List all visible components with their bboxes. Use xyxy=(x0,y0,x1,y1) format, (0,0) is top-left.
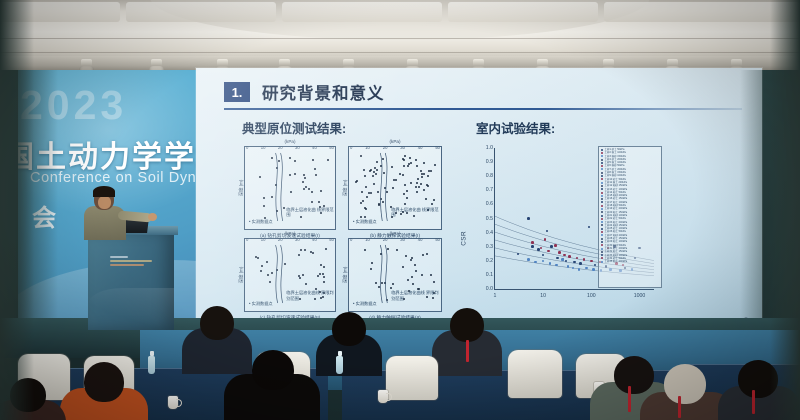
csr-data-point xyxy=(585,267,588,270)
ceiling-panel xyxy=(448,2,598,22)
data-point xyxy=(375,173,377,175)
data-point xyxy=(434,164,436,166)
data-point xyxy=(320,190,322,192)
data-point xyxy=(412,283,414,285)
data-point xyxy=(370,268,372,270)
csr-y-tick: 0.2 xyxy=(471,258,493,264)
data-point xyxy=(381,282,383,284)
data-point xyxy=(365,186,367,188)
data-point xyxy=(373,183,375,185)
slide-heading-lab: 室内试验结果: xyxy=(476,118,555,137)
csr-data-point xyxy=(578,268,581,271)
data-point xyxy=(370,169,372,171)
panel-x-ticks: 01020304050 xyxy=(349,237,441,242)
data-point xyxy=(372,175,374,177)
audience-chair xyxy=(386,356,438,400)
data-point xyxy=(300,249,302,251)
data-point xyxy=(315,174,317,176)
csr-y-tick: 0.9 xyxy=(471,159,493,165)
data-point xyxy=(298,254,300,256)
data-point xyxy=(433,281,435,283)
csr-legend-marker xyxy=(601,172,603,174)
data-point xyxy=(305,186,307,188)
data-point xyxy=(303,174,305,176)
data-point xyxy=(308,188,310,190)
panel-x-ticks: 01020304050 xyxy=(349,145,441,150)
data-point xyxy=(312,252,314,254)
audience-lanyard xyxy=(752,390,755,414)
data-point xyxy=(433,199,435,201)
data-point xyxy=(304,177,306,179)
data-point xyxy=(427,185,429,187)
ceiling-seam xyxy=(0,38,800,39)
data-point xyxy=(380,253,382,255)
data-point xyxy=(304,249,306,251)
audience-lanyard xyxy=(466,340,469,362)
data-point xyxy=(410,162,412,164)
data-point xyxy=(323,276,325,278)
audience-head xyxy=(84,362,124,402)
data-point xyxy=(430,274,432,276)
csr-legend-marker xyxy=(601,205,603,207)
csr-y-tick: 0.6 xyxy=(471,201,493,207)
csr-legend-marker xyxy=(601,182,603,184)
data-point xyxy=(302,181,304,183)
data-point xyxy=(302,274,304,276)
projection-screen: 1. 研究背景和意义 典型原位测试结果: 室内试验结果: (kPa)010203… xyxy=(196,68,762,330)
panel-y-axis-label: 深度 (m) xyxy=(342,267,348,284)
data-point xyxy=(408,163,410,165)
csr-legend-marker xyxy=(601,218,603,220)
screenshot-root: 2023 国土动力学学术会议 Conference on Soil Dynami… xyxy=(0,0,800,420)
data-point xyxy=(403,193,405,195)
data-point xyxy=(269,281,271,283)
data-point xyxy=(376,169,378,171)
data-point xyxy=(275,184,277,186)
data-point xyxy=(430,170,432,172)
data-point xyxy=(422,254,424,256)
data-point xyxy=(266,261,268,263)
insitu-panel: (kPa)01020304050深度 (m)• 实测数据点临界土层液化曲 线界限… xyxy=(244,146,336,230)
data-point xyxy=(325,248,327,250)
csr-y-tick: 0.4 xyxy=(471,230,493,236)
data-point xyxy=(290,191,292,193)
insitu-panel: (kPa)01020304050深度 (m)• 实测数据点临界土层液化曲 线界限… xyxy=(348,146,442,230)
presentation-slide: 1. 研究背景和意义 典型原位测试结果: 室内试验结果: (kPa)010203… xyxy=(196,68,762,330)
water-bottle xyxy=(336,356,343,374)
csr-data-point xyxy=(592,268,595,271)
csr-legend-box: 土样1 砂土 50kPa土样2 粉土 100kPa土样3 粉砂 150kPa土样… xyxy=(598,146,662,288)
data-point xyxy=(427,175,429,177)
data-point xyxy=(418,186,420,188)
paper-cup xyxy=(378,390,388,403)
speaker-hair xyxy=(93,186,115,197)
data-point xyxy=(383,172,385,174)
csr-legend-marker xyxy=(601,159,603,161)
data-point xyxy=(382,201,384,203)
csr-data-point xyxy=(579,262,582,265)
data-point xyxy=(404,203,406,205)
data-point xyxy=(376,161,378,163)
data-point xyxy=(405,255,407,257)
csr-legend-marker xyxy=(601,149,603,151)
audience-head xyxy=(664,364,706,404)
panel-top-unit: (kPa) xyxy=(349,231,441,236)
csr-data-point xyxy=(554,244,557,247)
data-point xyxy=(260,270,262,272)
data-point xyxy=(380,198,382,200)
csr-legend-row: 土样35 粉土 200kPa xyxy=(601,260,659,263)
ceiling-panel xyxy=(126,2,276,22)
speaker-face xyxy=(98,196,111,209)
podium-logo xyxy=(110,256,156,274)
panel-top-unit: (kPa) xyxy=(245,139,335,144)
csr-data-point xyxy=(583,258,586,261)
data-point xyxy=(375,282,377,284)
csr-data-point xyxy=(558,251,561,254)
data-point xyxy=(378,204,380,206)
csr-y-tick: 0.1 xyxy=(471,272,493,278)
audience-lanyard xyxy=(628,386,631,412)
panel-annotation: 临界土层液化曲 线界限范围 xyxy=(286,207,335,218)
csr-legend-marker xyxy=(601,175,603,177)
data-point xyxy=(392,187,394,189)
csr-y-tick: 0.5 xyxy=(471,216,493,222)
data-point xyxy=(263,197,265,199)
data-point xyxy=(360,202,362,204)
data-point xyxy=(318,201,320,203)
data-point xyxy=(278,160,280,162)
data-point xyxy=(368,192,370,194)
water-bottle xyxy=(148,356,155,374)
slide-section-badge: 1. xyxy=(224,82,250,102)
data-point xyxy=(283,207,285,209)
data-point xyxy=(431,203,433,205)
audience-head xyxy=(200,306,234,340)
data-point xyxy=(314,168,316,170)
csr-legend-marker xyxy=(601,261,603,263)
audience-head xyxy=(450,308,484,342)
csr-legend-marker xyxy=(601,195,603,197)
data-point xyxy=(411,276,413,278)
audience-head xyxy=(332,312,366,346)
data-point xyxy=(382,158,384,160)
data-point xyxy=(361,191,363,193)
csr-legend-marker xyxy=(601,215,603,217)
csr-legend-marker xyxy=(601,251,603,253)
data-point xyxy=(426,253,428,255)
csr-legend-marker xyxy=(601,185,603,187)
data-point xyxy=(407,165,409,167)
csr-legend-marker xyxy=(601,241,603,243)
data-point xyxy=(378,286,380,288)
data-point xyxy=(364,249,366,251)
data-point xyxy=(421,274,423,276)
csr-chart: CSR 0.00.10.20.30.40.50.60.70.80.91.0110… xyxy=(468,144,658,312)
data-point xyxy=(373,171,375,173)
data-point xyxy=(370,192,372,194)
data-point xyxy=(271,272,273,274)
data-point xyxy=(323,266,325,268)
panel-legend: • 实测数据点 xyxy=(249,219,273,225)
csr-data-point xyxy=(561,258,564,261)
data-point xyxy=(276,210,278,212)
data-point xyxy=(421,176,423,178)
audience-head xyxy=(614,356,654,394)
data-point xyxy=(362,200,364,202)
panel-x-ticks: 01020304050 xyxy=(245,237,335,242)
audience-head xyxy=(252,350,294,390)
slide-heading-insitu: 典型原位测试结果: xyxy=(242,118,346,137)
csr-y-tick: 0.7 xyxy=(471,187,493,193)
insitu-panel-grid: (kPa)01020304050深度 (m)• 实测数据点临界土层液化曲 线界限… xyxy=(244,146,444,316)
data-point xyxy=(305,283,307,285)
csr-y-tick: 0.8 xyxy=(471,173,493,179)
data-point xyxy=(312,159,314,161)
csr-data-point xyxy=(531,245,534,248)
data-point xyxy=(289,174,291,176)
data-point xyxy=(267,274,269,276)
data-point xyxy=(404,155,406,157)
panel-legend: • 实测数据点 xyxy=(353,219,377,225)
data-point xyxy=(390,287,392,289)
data-point xyxy=(407,279,409,281)
csr-legend-marker xyxy=(601,248,603,250)
data-point xyxy=(425,198,427,200)
data-point xyxy=(421,173,423,175)
data-point xyxy=(261,265,263,267)
audience-lanyard xyxy=(678,396,681,418)
data-point xyxy=(395,179,397,181)
data-point xyxy=(298,275,300,277)
data-point xyxy=(414,264,416,266)
data-point xyxy=(416,191,418,193)
data-point xyxy=(327,159,329,161)
csr-legend-marker xyxy=(601,228,603,230)
data-point xyxy=(363,169,365,171)
data-point xyxy=(380,165,382,167)
data-point xyxy=(366,196,368,198)
data-point xyxy=(420,170,422,172)
csr-x-tick: 1000 xyxy=(634,293,646,299)
csr-legend-marker xyxy=(601,208,603,210)
data-point xyxy=(410,182,412,184)
data-point xyxy=(276,167,278,169)
data-point xyxy=(303,188,305,190)
data-point xyxy=(319,273,321,275)
data-point xyxy=(263,205,265,207)
data-point xyxy=(257,257,259,259)
panel-y-axis-label: 深度 (m) xyxy=(342,180,348,197)
csr-x-tick: 100 xyxy=(587,293,596,299)
csr-legend-marker xyxy=(601,238,603,240)
audience-chair xyxy=(508,350,562,398)
data-point xyxy=(399,173,401,175)
panel-top-unit: (kPa) xyxy=(349,139,441,144)
data-point xyxy=(271,196,273,198)
paper-cup xyxy=(168,396,178,409)
csr-y-tick: 1.0 xyxy=(471,145,493,151)
data-point xyxy=(371,262,373,264)
audience-area xyxy=(0,300,800,420)
data-point xyxy=(417,178,419,180)
csr-data-point xyxy=(527,258,530,261)
data-point xyxy=(415,159,417,161)
data-point xyxy=(406,190,408,192)
data-point xyxy=(299,277,301,279)
data-point xyxy=(360,216,362,218)
data-point xyxy=(404,184,406,186)
data-point xyxy=(356,180,358,182)
data-point xyxy=(415,270,417,272)
slide-title: 研究背景和意义 xyxy=(262,80,385,104)
data-point xyxy=(391,166,393,168)
data-point xyxy=(423,189,425,191)
speaker-hand xyxy=(148,213,157,221)
data-point xyxy=(402,174,404,176)
data-point xyxy=(320,264,322,266)
data-point xyxy=(323,281,325,283)
data-point xyxy=(387,248,389,250)
ceiling xyxy=(0,0,800,62)
csr-data-point xyxy=(550,245,553,248)
data-point xyxy=(416,165,418,167)
data-point xyxy=(402,266,404,268)
data-point xyxy=(384,282,386,284)
data-point xyxy=(259,176,261,178)
data-point xyxy=(416,182,418,184)
csr-legend-label: 土样35 粉土 200kPa xyxy=(605,260,628,263)
csr-x-tick: 1 xyxy=(494,293,497,299)
data-point xyxy=(377,191,379,193)
panel-annotation: 临界土层液化曲 线界限范围 xyxy=(391,207,441,218)
panel-y-axis-label: 深度 (m) xyxy=(238,267,244,284)
csr-data-point xyxy=(590,260,593,263)
data-point xyxy=(294,160,296,162)
csr-data-point xyxy=(547,250,550,253)
data-point xyxy=(406,197,408,199)
data-point xyxy=(289,157,291,159)
ceiling-seam xyxy=(0,52,800,53)
slide-title-rule xyxy=(224,108,742,110)
data-point xyxy=(276,269,278,271)
data-point xyxy=(360,155,362,157)
panel-y-axis-label: 深度 (m) xyxy=(238,180,244,197)
data-point xyxy=(271,157,273,159)
csr-x-tick: 10 xyxy=(540,293,546,299)
data-point xyxy=(409,157,411,159)
data-point xyxy=(311,201,313,203)
panel-x-ticks: 01020304050 xyxy=(245,145,335,150)
data-point xyxy=(284,263,286,265)
data-point xyxy=(322,273,324,275)
panel-top-unit: (kPa) xyxy=(245,231,335,236)
data-point xyxy=(415,186,417,188)
data-point xyxy=(403,165,405,167)
csr-legend-marker xyxy=(601,162,603,164)
data-point xyxy=(364,175,366,177)
data-point xyxy=(392,283,394,285)
csr-data-point xyxy=(527,217,530,220)
data-point xyxy=(317,275,319,277)
data-point xyxy=(423,162,425,164)
csr-legend-marker xyxy=(601,192,603,194)
csr-data-point xyxy=(568,255,571,258)
data-point xyxy=(396,249,398,251)
csr-y-tick: 0.3 xyxy=(471,244,493,250)
data-point xyxy=(410,259,412,261)
data-point xyxy=(386,191,388,193)
csr-data-point xyxy=(531,241,534,244)
data-point xyxy=(294,173,296,175)
data-point xyxy=(311,191,313,193)
csr-legend-marker xyxy=(601,152,603,154)
ceiling-panel xyxy=(282,2,442,22)
data-point xyxy=(384,187,386,189)
csr-y-axis-label: CSR xyxy=(461,231,468,246)
data-point xyxy=(420,183,422,185)
csr-y-tick: 0.0 xyxy=(471,286,493,292)
